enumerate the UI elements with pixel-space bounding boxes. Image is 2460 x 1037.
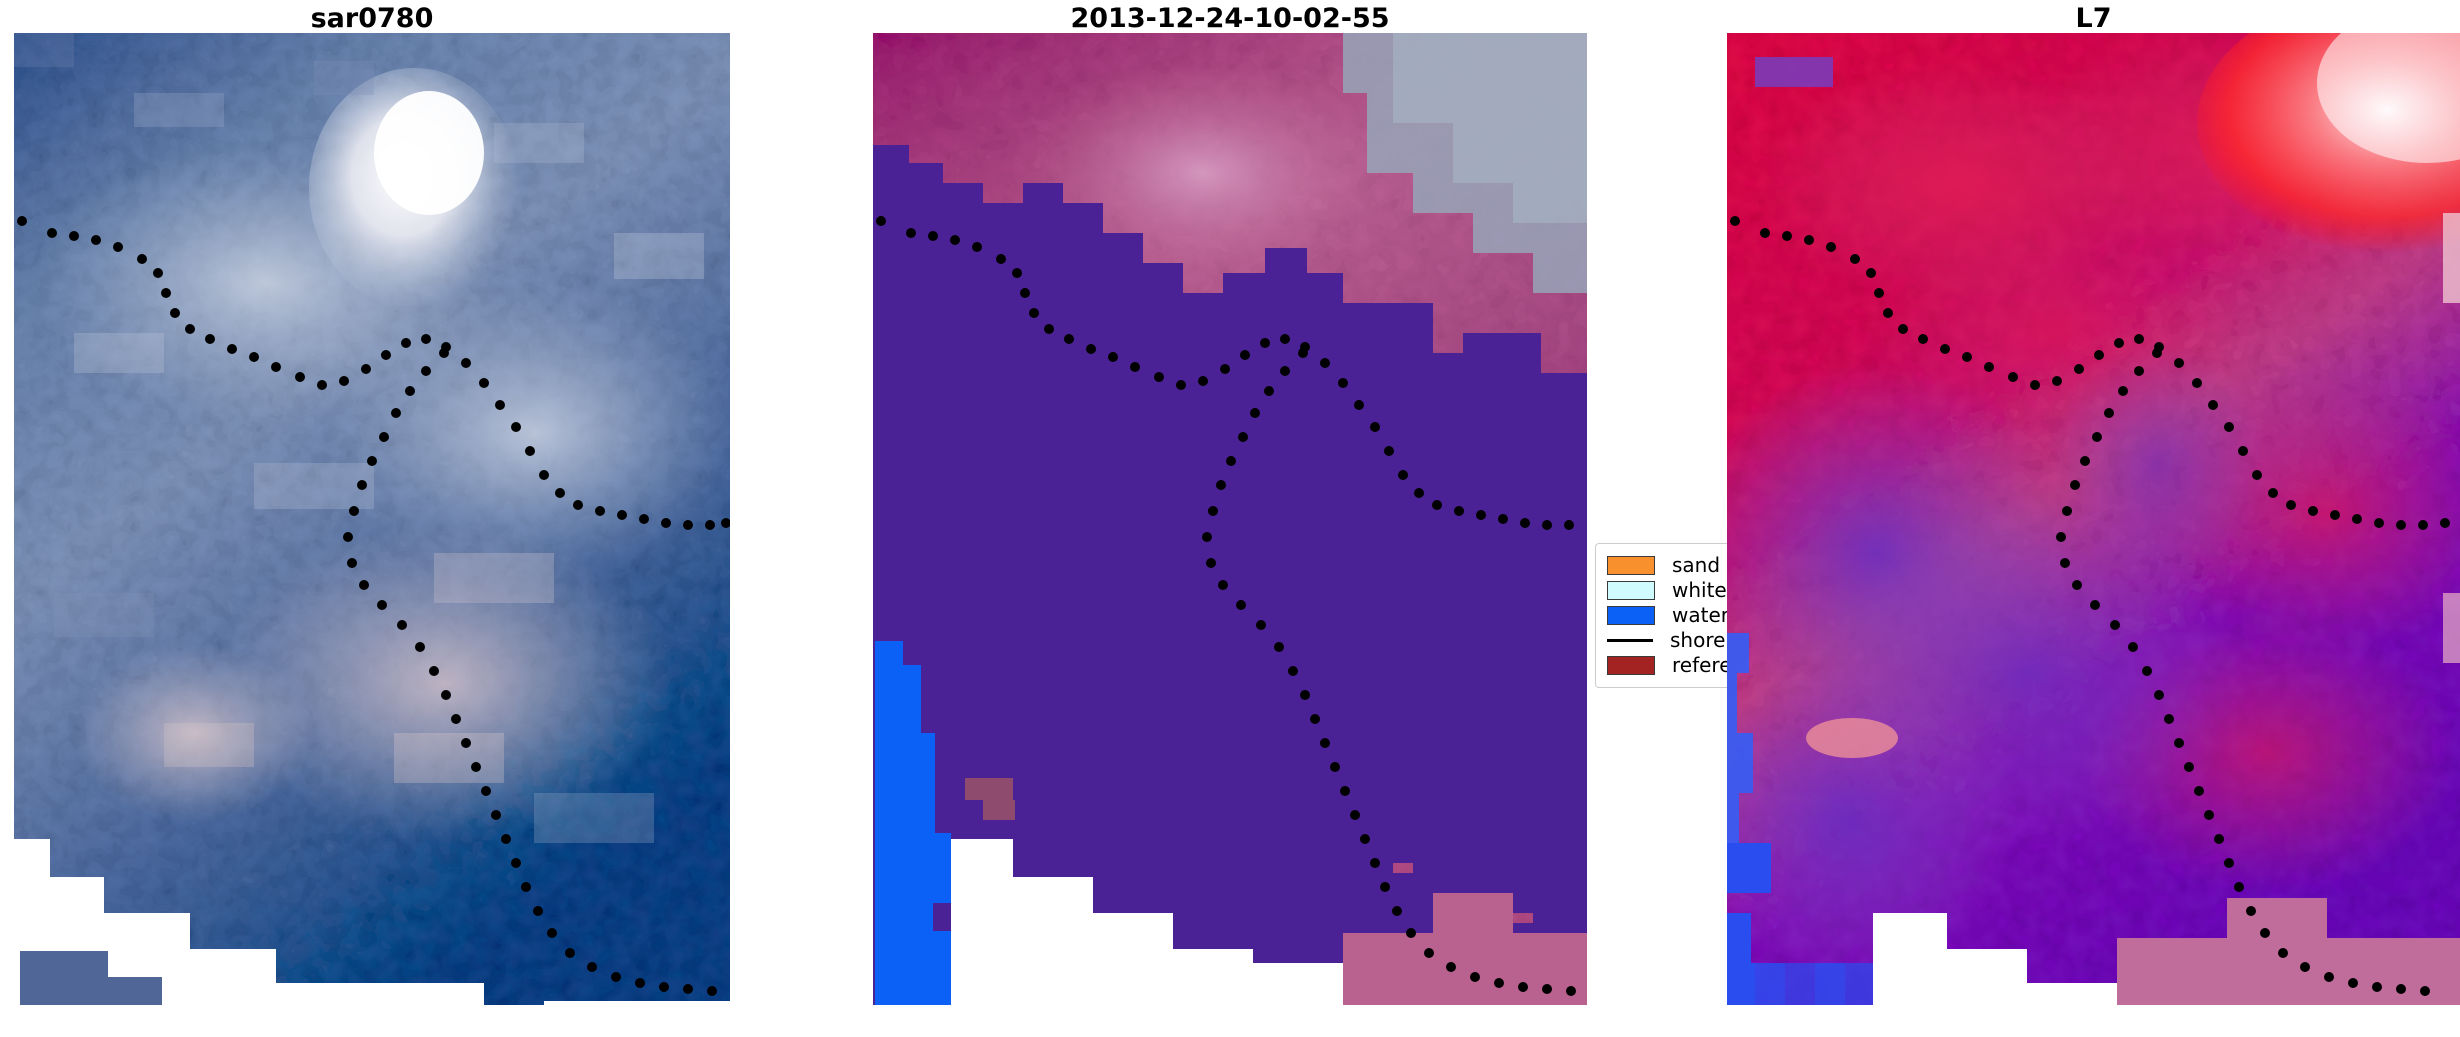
- panel-l7[interactable]: [1727, 33, 2460, 1005]
- panel-title-classified: 2013-12-24-10-02-55: [873, 4, 1587, 34]
- whitewater-swatch: [1607, 581, 1655, 600]
- l7-image: [1727, 33, 2460, 1005]
- reference-swatch: [1607, 656, 1655, 675]
- legend-item-whitewater[interactable]: whitew: [1607, 578, 1732, 603]
- legend-item-reference[interactable]: referen: [1607, 653, 1732, 678]
- legend-box: sand whitew water shorel referen: [1595, 543, 1732, 688]
- figure-canvas: sar0780: [0, 0, 2460, 1037]
- panel-title-l7: L7: [1727, 4, 2460, 34]
- sar-image: [14, 33, 730, 1005]
- legend-label-shoreline: shorel: [1670, 628, 1731, 653]
- legend-label-whitewater: whitew: [1672, 578, 1732, 603]
- shoreline-line-marker: [1607, 639, 1653, 642]
- legend-item-water[interactable]: water: [1607, 603, 1732, 628]
- legend-item-shoreline[interactable]: shorel: [1607, 628, 1732, 653]
- water-swatch: [1607, 606, 1655, 625]
- legend-label-reference: referen: [1672, 653, 1732, 678]
- legend-item-sand[interactable]: sand: [1607, 553, 1732, 578]
- legend-clip: sand whitew water shorel referen: [1595, 543, 1732, 703]
- legend-label-water: water: [1672, 603, 1729, 628]
- legend-label-sand: sand: [1672, 553, 1720, 578]
- panel-sar[interactable]: [14, 33, 730, 1005]
- sand-swatch: [1607, 556, 1655, 575]
- panel-title-sar: sar0780: [14, 4, 730, 34]
- classified-image: [873, 33, 1587, 1005]
- panel-classified[interactable]: [873, 33, 1587, 1005]
